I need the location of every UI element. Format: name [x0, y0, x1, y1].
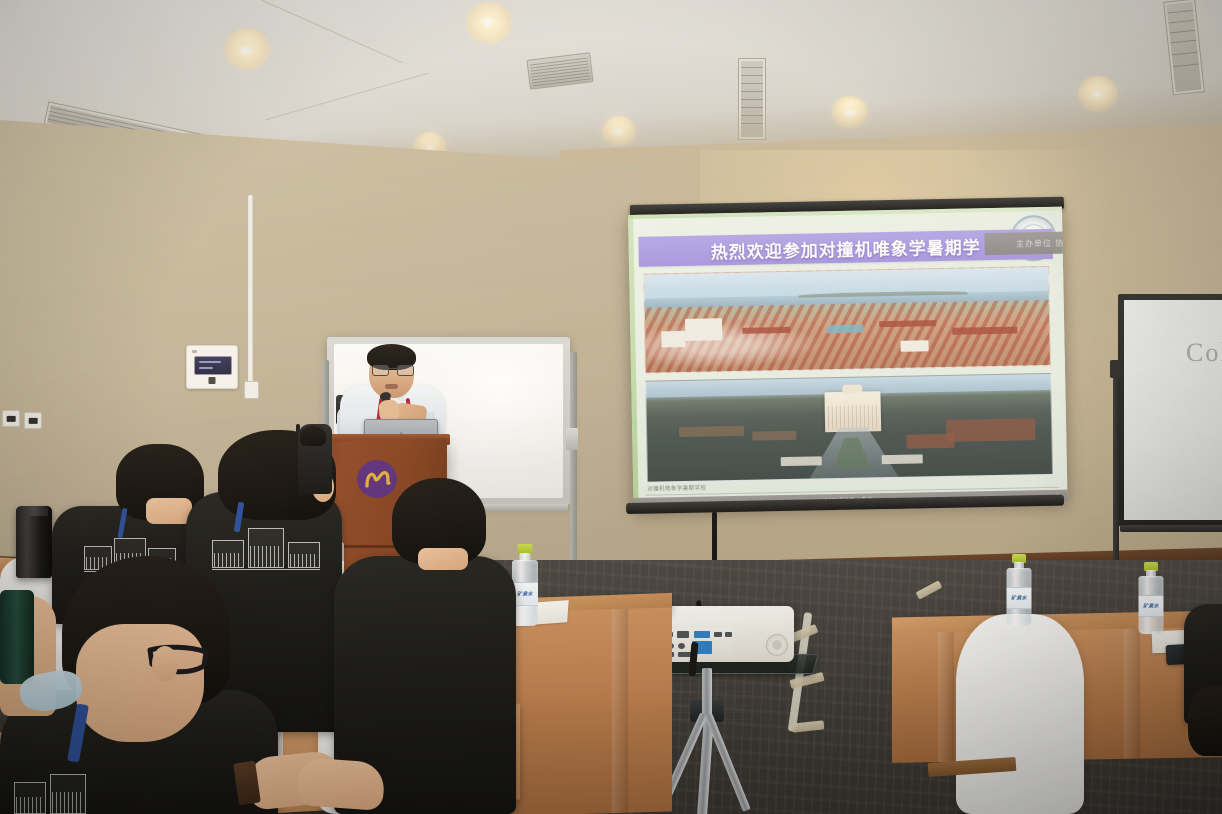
bottle-label-text: 矿泉水 — [1143, 603, 1159, 610]
eyeglasses-icon — [372, 365, 412, 374]
attendee-behind-podium-hair — [300, 426, 326, 446]
slide-photo-main-building — [645, 373, 1053, 483]
speaker-hand — [378, 399, 400, 421]
speaker-mouth — [385, 384, 398, 389]
tshirt-campus-graphic — [14, 772, 118, 814]
conference-room-photo: Colli 热烈欢迎参加对撞机唯象学暑期学 主办单位 协办 — [0, 0, 1222, 814]
ac-control-panel[interactable] — [186, 345, 238, 389]
slide-left-accent — [628, 215, 639, 510]
water-bottle[interactable]: 矿泉水 — [1134, 562, 1168, 634]
slide-title-note: 主办单位 协办 — [984, 231, 1067, 255]
slide-title-band: 热烈欢迎参加对撞机唯象学暑期学 主办单位 协办 — [638, 229, 1052, 267]
presentation-slide: 热烈欢迎参加对撞机唯象学暑期学 主办单位 协办 — [628, 207, 1068, 510]
attendee-back-right-hair — [1188, 686, 1222, 756]
chair[interactable] — [956, 614, 1084, 814]
dark-drink-bottle[interactable] — [0, 590, 34, 684]
whiteboard-handwriting: Colli — [1186, 338, 1222, 368]
wall-conduit — [248, 195, 253, 390]
water-bottle[interactable]: 矿泉水 — [1002, 554, 1036, 626]
podium-logo-icon — [356, 459, 398, 499]
conduit-junction-box — [244, 381, 259, 399]
slide-title: 热烈欢迎参加对撞机唯象学暑期学 — [710, 233, 980, 263]
whiteboard-right-surface: Colli — [1124, 300, 1222, 520]
slide-photo-aerial-campus — [643, 266, 1051, 374]
attendee-center-neck — [418, 548, 468, 570]
projector-vent — [766, 634, 788, 656]
bottle-label-text: 矿泉水 — [517, 591, 533, 598]
projection-screen-assembly: 热烈欢迎参加对撞机唯象学暑期学 主办单位 协办 — [614, 205, 1064, 525]
ceiling-downlight — [479, 15, 497, 29]
tripod-center-column — [702, 668, 712, 718]
slide-footer-left: 对撞机唯象学暑期学校 — [647, 484, 706, 493]
whiteboard-leg-clamp — [566, 428, 578, 450]
whiteboard-right-wall: Colli — [1118, 294, 1222, 526]
wall-outlet[interactable] — [24, 412, 42, 429]
wall-outlet[interactable] — [2, 410, 20, 427]
whiteboard-right-clamp — [1110, 360, 1120, 378]
ceiling-downlight — [237, 44, 255, 57]
panel-led — [192, 350, 197, 353]
attendee-front-left-face — [76, 624, 204, 742]
thermos-flask[interactable] — [16, 506, 52, 578]
whiteboard-right-tray — [1120, 525, 1222, 532]
attendee-mid-left-neck — [146, 498, 192, 524]
panel-button[interactable] — [209, 377, 216, 384]
panel-display — [194, 356, 232, 375]
attendee-front-left-ear — [152, 646, 178, 682]
projection-screen: 热烈欢迎参加对撞机唯象学暑期学 主办单位 协办 — [628, 207, 1068, 510]
bottle-label-text: 矿泉水 — [1011, 595, 1027, 602]
tshirt-campus-graphic — [212, 524, 324, 570]
